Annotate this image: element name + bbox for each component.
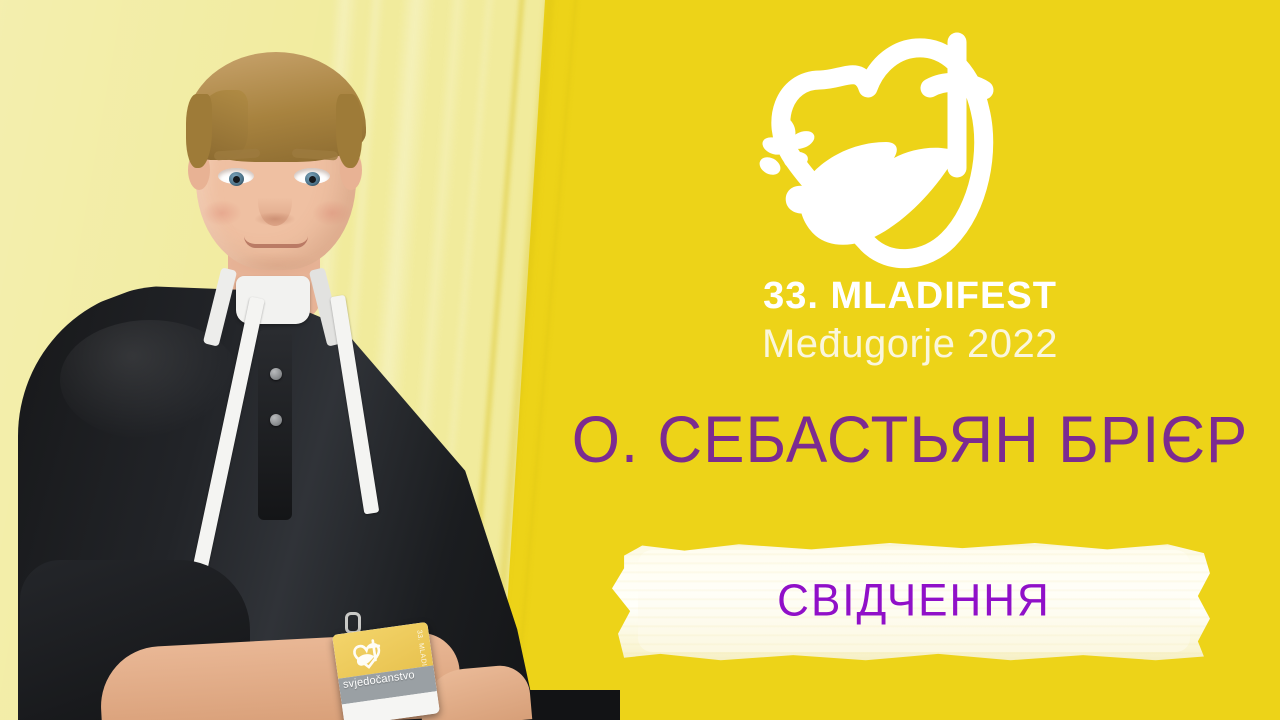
banner-label: СВІДЧЕННЯ (612, 535, 1216, 666)
cheek-left (202, 200, 242, 226)
eye-right (294, 168, 330, 184)
cheek-right (312, 200, 352, 226)
pupil-left (233, 176, 240, 183)
poster-canvas: 33. MLADIFEST svjedočanstvo 33. MLADIFES… (0, 0, 1280, 720)
festival-location-year: Međugorje 2022 (540, 322, 1280, 367)
pupil-right (309, 176, 316, 183)
festival-title: 33. MLADIFEST (540, 275, 1280, 318)
heart-cross-dove-logo (744, 18, 1016, 270)
nose (258, 178, 292, 226)
testimony-banner: СВІДЧЕННЯ (612, 538, 1216, 664)
hair-side-left (186, 94, 212, 168)
iris-left (229, 172, 244, 186)
speaker-portrait: 33. MLADIFEST svjedočanstvo (0, 0, 600, 720)
mouth (244, 236, 308, 248)
iris-right (305, 172, 320, 186)
shirt-button (270, 368, 282, 380)
roman-collar (214, 276, 332, 336)
shirt-button (270, 414, 282, 426)
heart-cross-dove-icon (345, 636, 389, 675)
eye-left (218, 168, 254, 184)
conference-badge: 33. MLADIFEST svjedočanstvo (332, 622, 440, 720)
speaker-name: О. СЕБАСТЬЯН БРІЄР (540, 403, 1280, 478)
hair-side-right (336, 94, 362, 168)
